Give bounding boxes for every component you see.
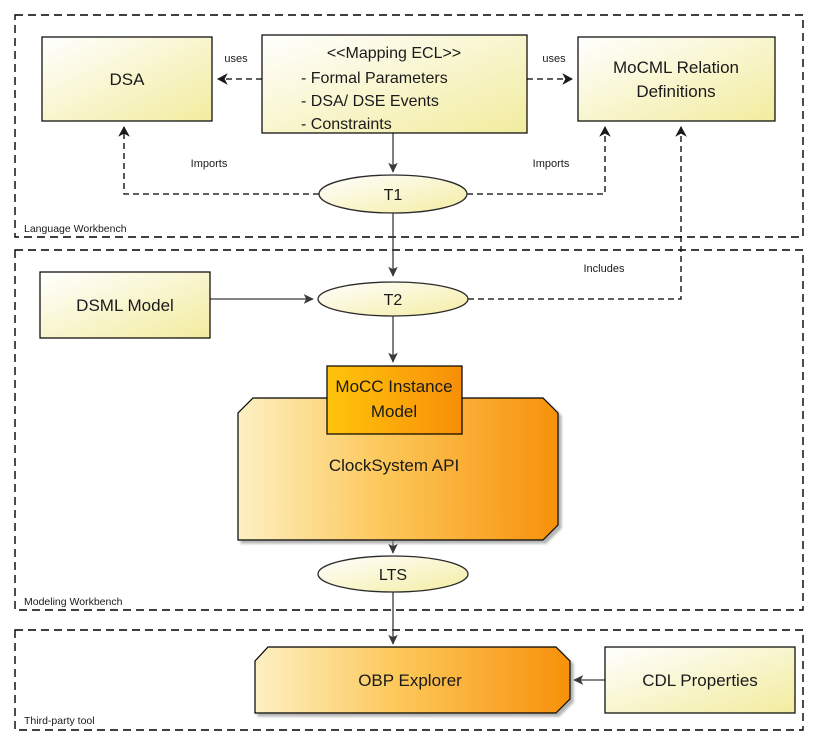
node-mocml-label-line-1: Definitions [636, 82, 715, 101]
node-obp-explorer-label: OBP Explorer [358, 671, 462, 690]
container-label-third-party-tool: Third-party tool [24, 715, 95, 727]
node-mapping-ecl-line-3: - Constraints [301, 116, 392, 133]
container-label-language-workbench: Language Workbench [24, 223, 127, 235]
architecture-diagram: DSA <<Mapping ECL>> - Formal Parameters … [0, 0, 821, 746]
node-mocc-label-line-0: MoCC Instance [335, 377, 452, 396]
edge-label-imports-mocml: Imports [533, 158, 570, 170]
edge-t2-to-mocml [468, 127, 681, 299]
diagram-canvas: DSA <<Mapping ECL>> - Formal Parameters … [0, 0, 821, 746]
edge-label-uses-dsa: uses [224, 53, 248, 65]
node-cdl-properties-label: CDL Properties [642, 671, 758, 690]
node-mapping-ecl-line-1: - Formal Parameters [301, 70, 448, 87]
node-mapping-ecl-line-2: - DSA/ DSE Events [301, 93, 439, 110]
node-t1-label: T1 [384, 187, 403, 204]
node-mapping-ecl-line-0: <<Mapping ECL>> [327, 45, 461, 62]
node-clocksystem-api-label: ClockSystem API [329, 456, 459, 475]
node-dsa-label: DSA [110, 70, 146, 89]
node-mocml-relation-definitions[interactable] [578, 37, 775, 121]
node-lts-label: LTS [379, 567, 407, 584]
container-label-modeling-workbench: Modeling Workbench [24, 596, 123, 608]
node-t2-label: T2 [384, 292, 403, 309]
edge-label-includes: Includes [584, 263, 625, 275]
node-mocml-label-line-0: MoCML Relation [613, 58, 739, 77]
node-dsml-model-label: DSML Model [76, 296, 174, 315]
node-mocc-label-line-1: Model [371, 402, 417, 421]
edge-label-imports-dsa: Imports [191, 158, 228, 170]
edge-label-uses-mocml: uses [542, 53, 566, 65]
